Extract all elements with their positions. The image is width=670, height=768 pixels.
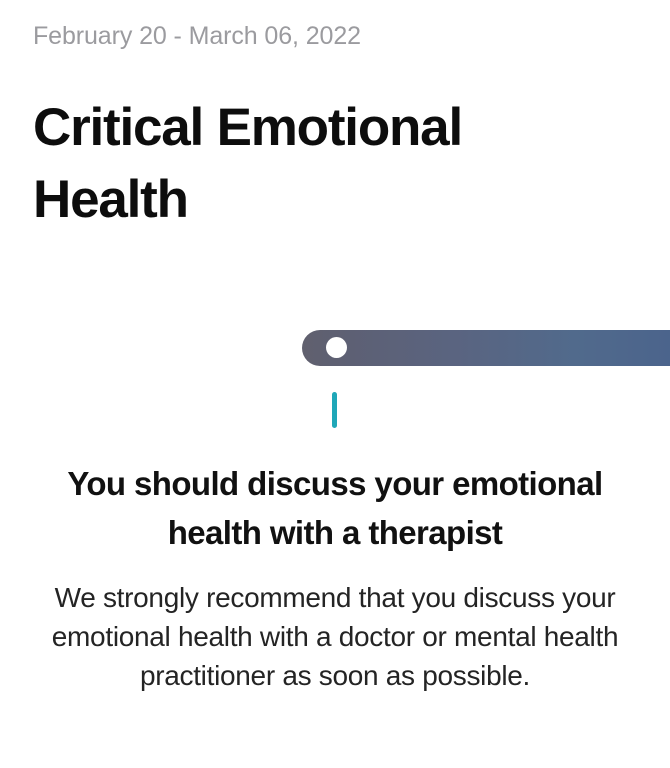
report-date-range: February 20 - March 06, 2022 [33, 20, 361, 52]
severity-tick-indicator [332, 392, 337, 428]
severity-gradient-bar [302, 330, 670, 366]
page-title: Critical Emotional Health [33, 92, 573, 236]
recommendation-body-text: We strongly recommend that you discuss y… [45, 578, 625, 695]
recommendation-headline: You should discuss your emotional health… [20, 459, 650, 557]
severity-scale [0, 330, 670, 430]
severity-marker-dot [326, 337, 347, 358]
emotional-health-report-card: February 20 - March 06, 2022 Critical Em… [0, 0, 670, 768]
